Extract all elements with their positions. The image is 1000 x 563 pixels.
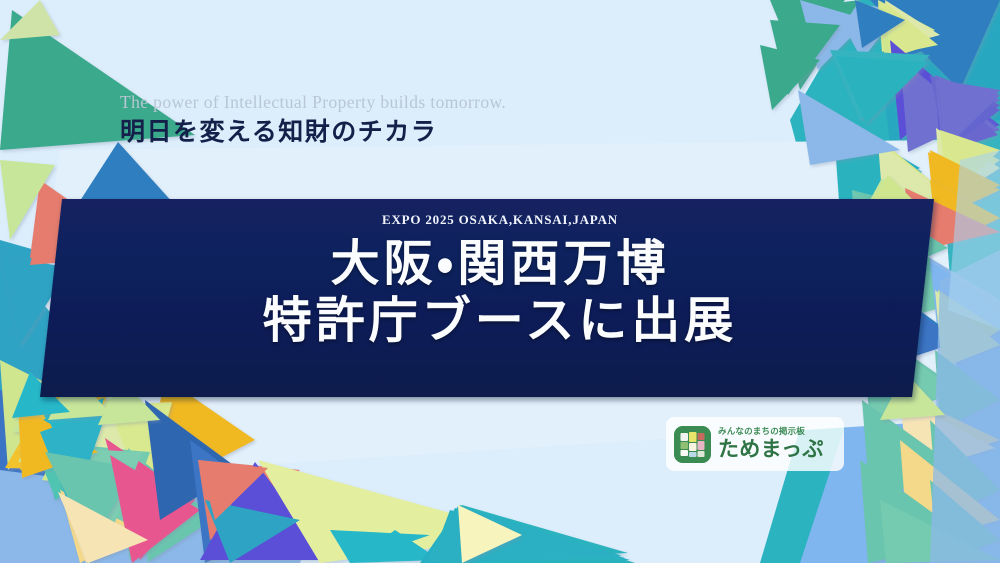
tagline-english: The power of Intellectual Property build…	[120, 92, 680, 114]
tamemap-board-icon	[674, 426, 711, 463]
tagline-block: The power of Intellectual Property build…	[120, 92, 680, 147]
tamemap-logo[interactable]: みんなのまちの掲示板 ためまっぷ	[666, 417, 844, 471]
tagline-japanese: 明日を変える知財のチカラ	[120, 116, 680, 147]
poster-canvas: The power of Intellectual Property build…	[0, 0, 1000, 563]
logo-name: ためまっぷ	[718, 439, 824, 460]
decorative-triangles	[0, 0, 1000, 563]
logo-wordmark: みんなのまちの掲示板 ためまっぷ	[718, 428, 824, 461]
triangle-cluster-bottom-center	[198, 460, 635, 563]
logo-tagline: みんなのまちの掲示板	[718, 428, 824, 437]
